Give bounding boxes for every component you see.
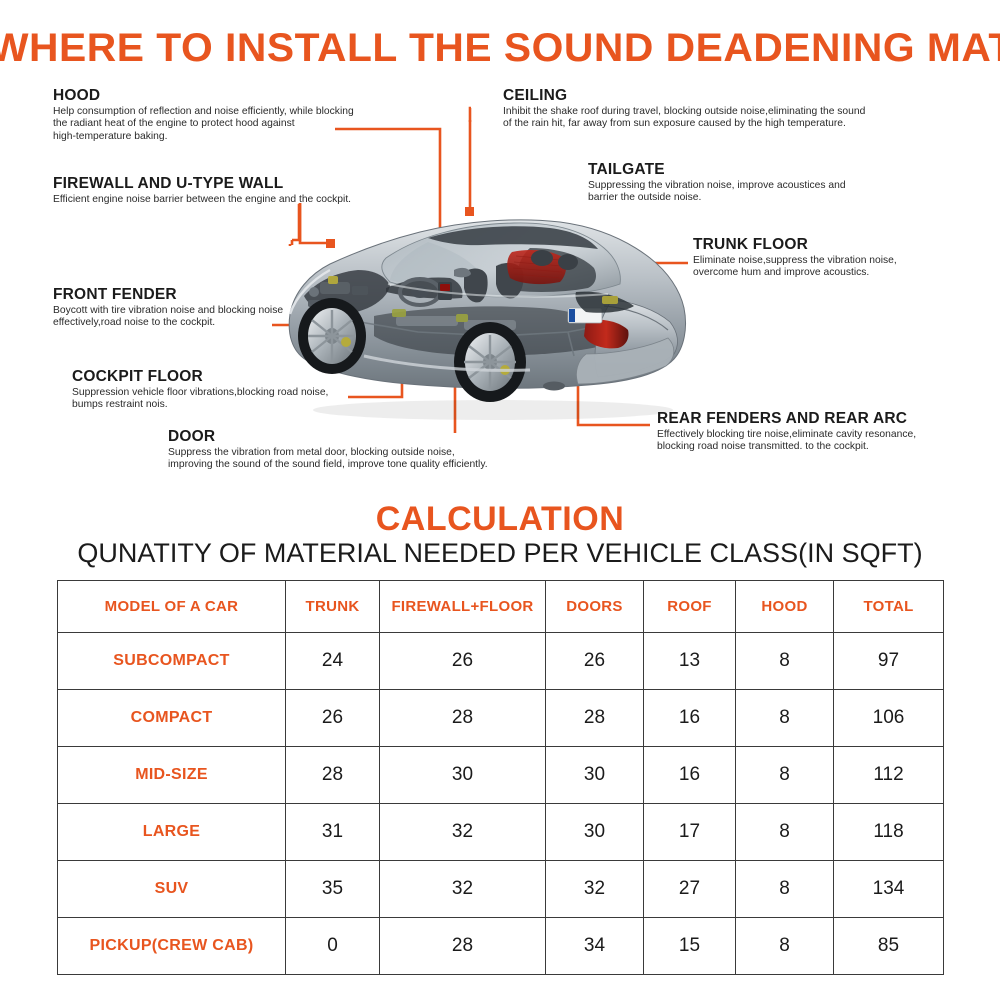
cell-total: 106 [834,690,944,747]
callout-trunk-floor-body: Eliminate noise,suppress the vibration n… [693,255,897,280]
cell-doors: 28 [546,690,644,747]
table-row: MID-SIZE 28 30 30 16 8 112 [58,747,944,804]
cell-roof: 16 [644,690,736,747]
cell-total: 112 [834,747,944,804]
column-header-doors: DOORS [546,581,644,633]
callout-rear-fenders: REAR FENDERS AND REAR ARC Effectively bl… [657,410,916,454]
callout-ceiling-body: Inhibit the shake roof during travel, bl… [503,106,865,131]
table-header-row: MODEL OF A CAR TRUNK FIREWALL+FLOOR DOOR… [58,581,944,633]
callout-cockpit-floor: COCKPIT FLOOR Suppression vehicle floor … [72,368,328,412]
cell-doors: 30 [546,804,644,861]
callout-door-heading: DOOR [168,428,488,445]
cell-roof: 27 [644,861,736,918]
column-header-total: TOTAL [834,581,944,633]
cell-model: MID-SIZE [58,747,286,804]
callout-hood-heading: HOOD [53,87,354,104]
callout-ceiling-heading: CEILING [503,87,865,104]
cell-trunk: 0 [286,918,380,975]
callout-cockpit-floor-heading: COCKPIT FLOOR [72,368,328,385]
cell-doors: 26 [546,633,644,690]
cell-trunk: 26 [286,690,380,747]
cell-hood: 8 [736,747,834,804]
callout-trunk-floor-heading: TRUNK FLOOR [693,236,897,253]
cell-doors: 30 [546,747,644,804]
table-row: PICKUP(CREW CAB) 0 28 34 15 8 85 [58,918,944,975]
callout-rear-fenders-body: Effectively blocking tire noise,eliminat… [657,429,916,454]
cell-model: COMPACT [58,690,286,747]
table-row: LARGE 31 32 30 17 8 118 [58,804,944,861]
column-header-roof: ROOF [644,581,736,633]
callout-hood-body: Help consumption of reflection and noise… [53,106,354,143]
callout-firewall-heading: FIREWALL AND U-TYPE WALL [53,175,351,192]
cell-trunk: 28 [286,747,380,804]
cell-trunk: 31 [286,804,380,861]
cell-doors: 32 [546,861,644,918]
callout-tailgate: TAILGATE Suppressing the vibration noise… [588,161,846,205]
callout-tailgate-body: Suppressing the vibration noise, improve… [588,180,846,205]
material-quantity-table: MODEL OF A CAR TRUNK FIREWALL+FLOOR DOOR… [57,580,944,975]
callout-ceiling: CEILING Inhibit the shake roof during tr… [503,87,865,131]
cell-doors: 34 [546,918,644,975]
cell-trunk: 24 [286,633,380,690]
front-wheel [298,298,366,374]
calculation-subtitle: QUNATITY OF MATERIAL NEEDED PER VEHICLE … [0,538,1000,569]
cell-firewall-floor: 28 [380,690,546,747]
cell-model: SUBCOMPACT [58,633,286,690]
column-header-trunk: TRUNK [286,581,380,633]
car-cutaway-illustration [268,196,708,426]
cell-total: 97 [834,633,944,690]
callout-front-fender: FRONT FENDER Boycott with tire vibration… [53,286,283,330]
rear-wheel [454,322,526,402]
callout-front-fender-heading: FRONT FENDER [53,286,283,303]
cell-roof: 16 [644,747,736,804]
calculation-title: CALCULATION [0,500,1000,539]
cell-trunk: 35 [286,861,380,918]
cell-model: SUV [58,861,286,918]
cell-roof: 17 [644,804,736,861]
column-header-hood: HOOD [736,581,834,633]
cell-total: 134 [834,861,944,918]
cell-hood: 8 [736,804,834,861]
cell-hood: 8 [736,633,834,690]
callout-tailgate-heading: TAILGATE [588,161,846,178]
callout-front-fender-body: Boycott with tire vibration noise and bl… [53,305,283,330]
callout-hood: HOOD Help consumption of reflection and … [53,87,354,143]
callout-door: DOOR Suppress the vibration from metal d… [168,428,488,472]
cell-firewall-floor: 26 [380,633,546,690]
cell-hood: 8 [736,861,834,918]
cell-model: PICKUP(CREW CAB) [58,918,286,975]
callout-firewall-body: Efficient engine noise barrier between t… [53,194,351,206]
cell-total: 118 [834,804,944,861]
callout-door-body: Suppress the vibration from metal door, … [168,447,488,472]
column-header-model: MODEL OF A CAR [58,581,286,633]
table-row: SUV 35 32 32 27 8 134 [58,861,944,918]
cell-roof: 13 [644,633,736,690]
cell-firewall-floor: 30 [380,747,546,804]
table-row: COMPACT 26 28 28 16 8 106 [58,690,944,747]
callout-rear-fenders-heading: REAR FENDERS AND REAR ARC [657,410,916,427]
cell-firewall-floor: 28 [380,918,546,975]
cell-firewall-floor: 32 [380,861,546,918]
callout-cockpit-floor-body: Suppression vehicle floor vibrations,blo… [72,387,328,412]
column-header-firewall-floor: FIREWALL+FLOOR [380,581,546,633]
cell-model: LARGE [58,804,286,861]
cell-firewall-floor: 32 [380,804,546,861]
cell-hood: 8 [736,918,834,975]
cell-hood: 8 [736,690,834,747]
cell-total: 85 [834,918,944,975]
table-row: SUBCOMPACT 24 26 26 13 8 97 [58,633,944,690]
callout-firewall: FIREWALL AND U-TYPE WALL Efficient engin… [53,175,351,206]
cell-roof: 15 [644,918,736,975]
callout-trunk-floor: TRUNK FLOOR Eliminate noise,suppress the… [693,236,897,280]
